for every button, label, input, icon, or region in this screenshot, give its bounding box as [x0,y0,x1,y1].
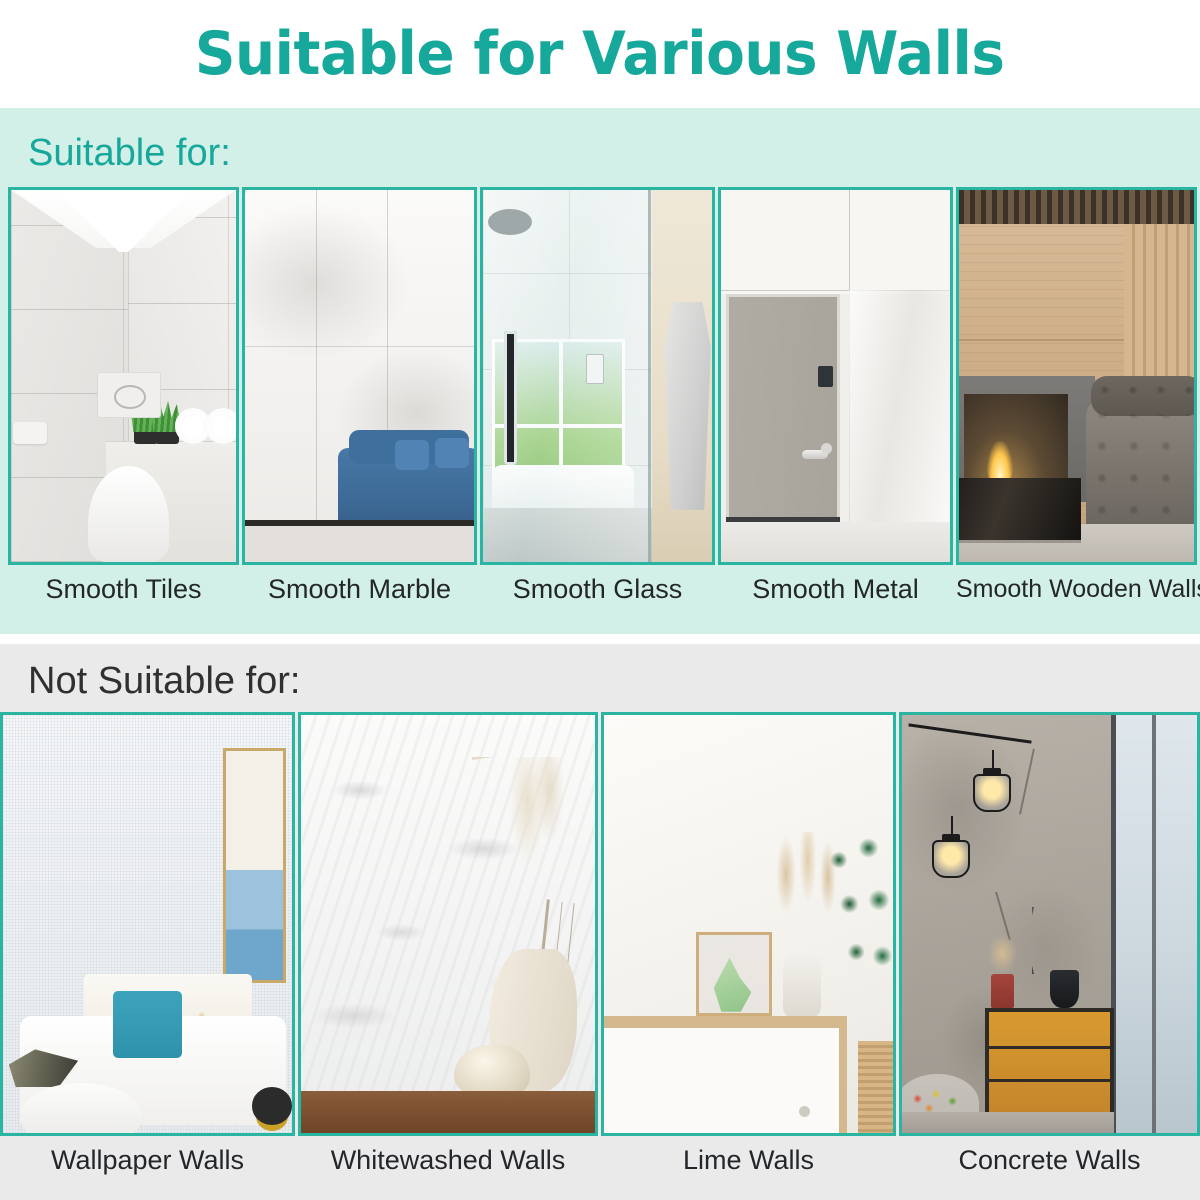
caption-smooth-glass: Smooth Glass [480,569,715,609]
title-bar: Suitable for Various Walls [0,0,1200,108]
caption-smooth-wooden-walls: Smooth Wooden Walls [956,569,1197,609]
not-suitable-heading: Not Suitable for: [28,660,300,703]
scene-smooth-marble [245,190,474,562]
not-suitable-section: Not Suitable for: [0,644,1200,1200]
not-suitable-panel-concrete-walls[interactable] [899,712,1200,1136]
suitable-caption-row: Smooth Tiles Smooth Marble Smooth Glass … [8,569,1200,609]
suitable-panel-row [8,187,1200,565]
not-suitable-panel-lime-walls[interactable] [601,712,896,1136]
caption-wallpaper-walls: Wallpaper Walls [0,1140,295,1180]
caption-concrete-walls: Concrete Walls [899,1140,1200,1180]
scene-wallpaper-walls [3,715,292,1133]
caption-lime-walls: Lime Walls [601,1140,896,1180]
caption-whitewashed-walls: Whitewashed Walls [298,1140,598,1180]
suitable-section: Suitable for: [0,108,1200,634]
scene-lime-walls [604,715,893,1133]
not-suitable-panel-whitewashed-walls[interactable] [298,712,598,1136]
suitable-panel-smooth-marble[interactable] [242,187,477,565]
suitable-panel-smooth-glass[interactable] [480,187,715,565]
scene-smooth-metal [721,190,950,562]
not-suitable-panel-wallpaper-walls[interactable] [0,712,295,1136]
suitable-panel-smooth-wooden-walls[interactable] [956,187,1197,565]
scene-smooth-tiles [11,190,236,562]
suitable-heading: Suitable for: [28,132,231,175]
caption-smooth-tiles: Smooth Tiles [8,569,239,609]
caption-smooth-metal: Smooth Metal [718,569,953,609]
not-suitable-caption-row: Wallpaper Walls Whitewashed Walls Lime W… [0,1140,1200,1180]
scene-concrete-walls [902,715,1197,1133]
not-suitable-panel-row [0,712,1200,1136]
caption-smooth-marble: Smooth Marble [242,569,477,609]
scene-whitewashed-walls [301,715,595,1133]
page-title: Suitable for Various Walls [195,19,1005,89]
suitable-panel-smooth-tiles[interactable] [8,187,239,565]
suitable-panel-smooth-metal[interactable] [718,187,953,565]
infographic-page: Suitable for Various Walls Suitable for: [0,0,1200,1200]
scene-smooth-glass [483,190,712,562]
scene-smooth-wooden-walls [959,190,1194,562]
